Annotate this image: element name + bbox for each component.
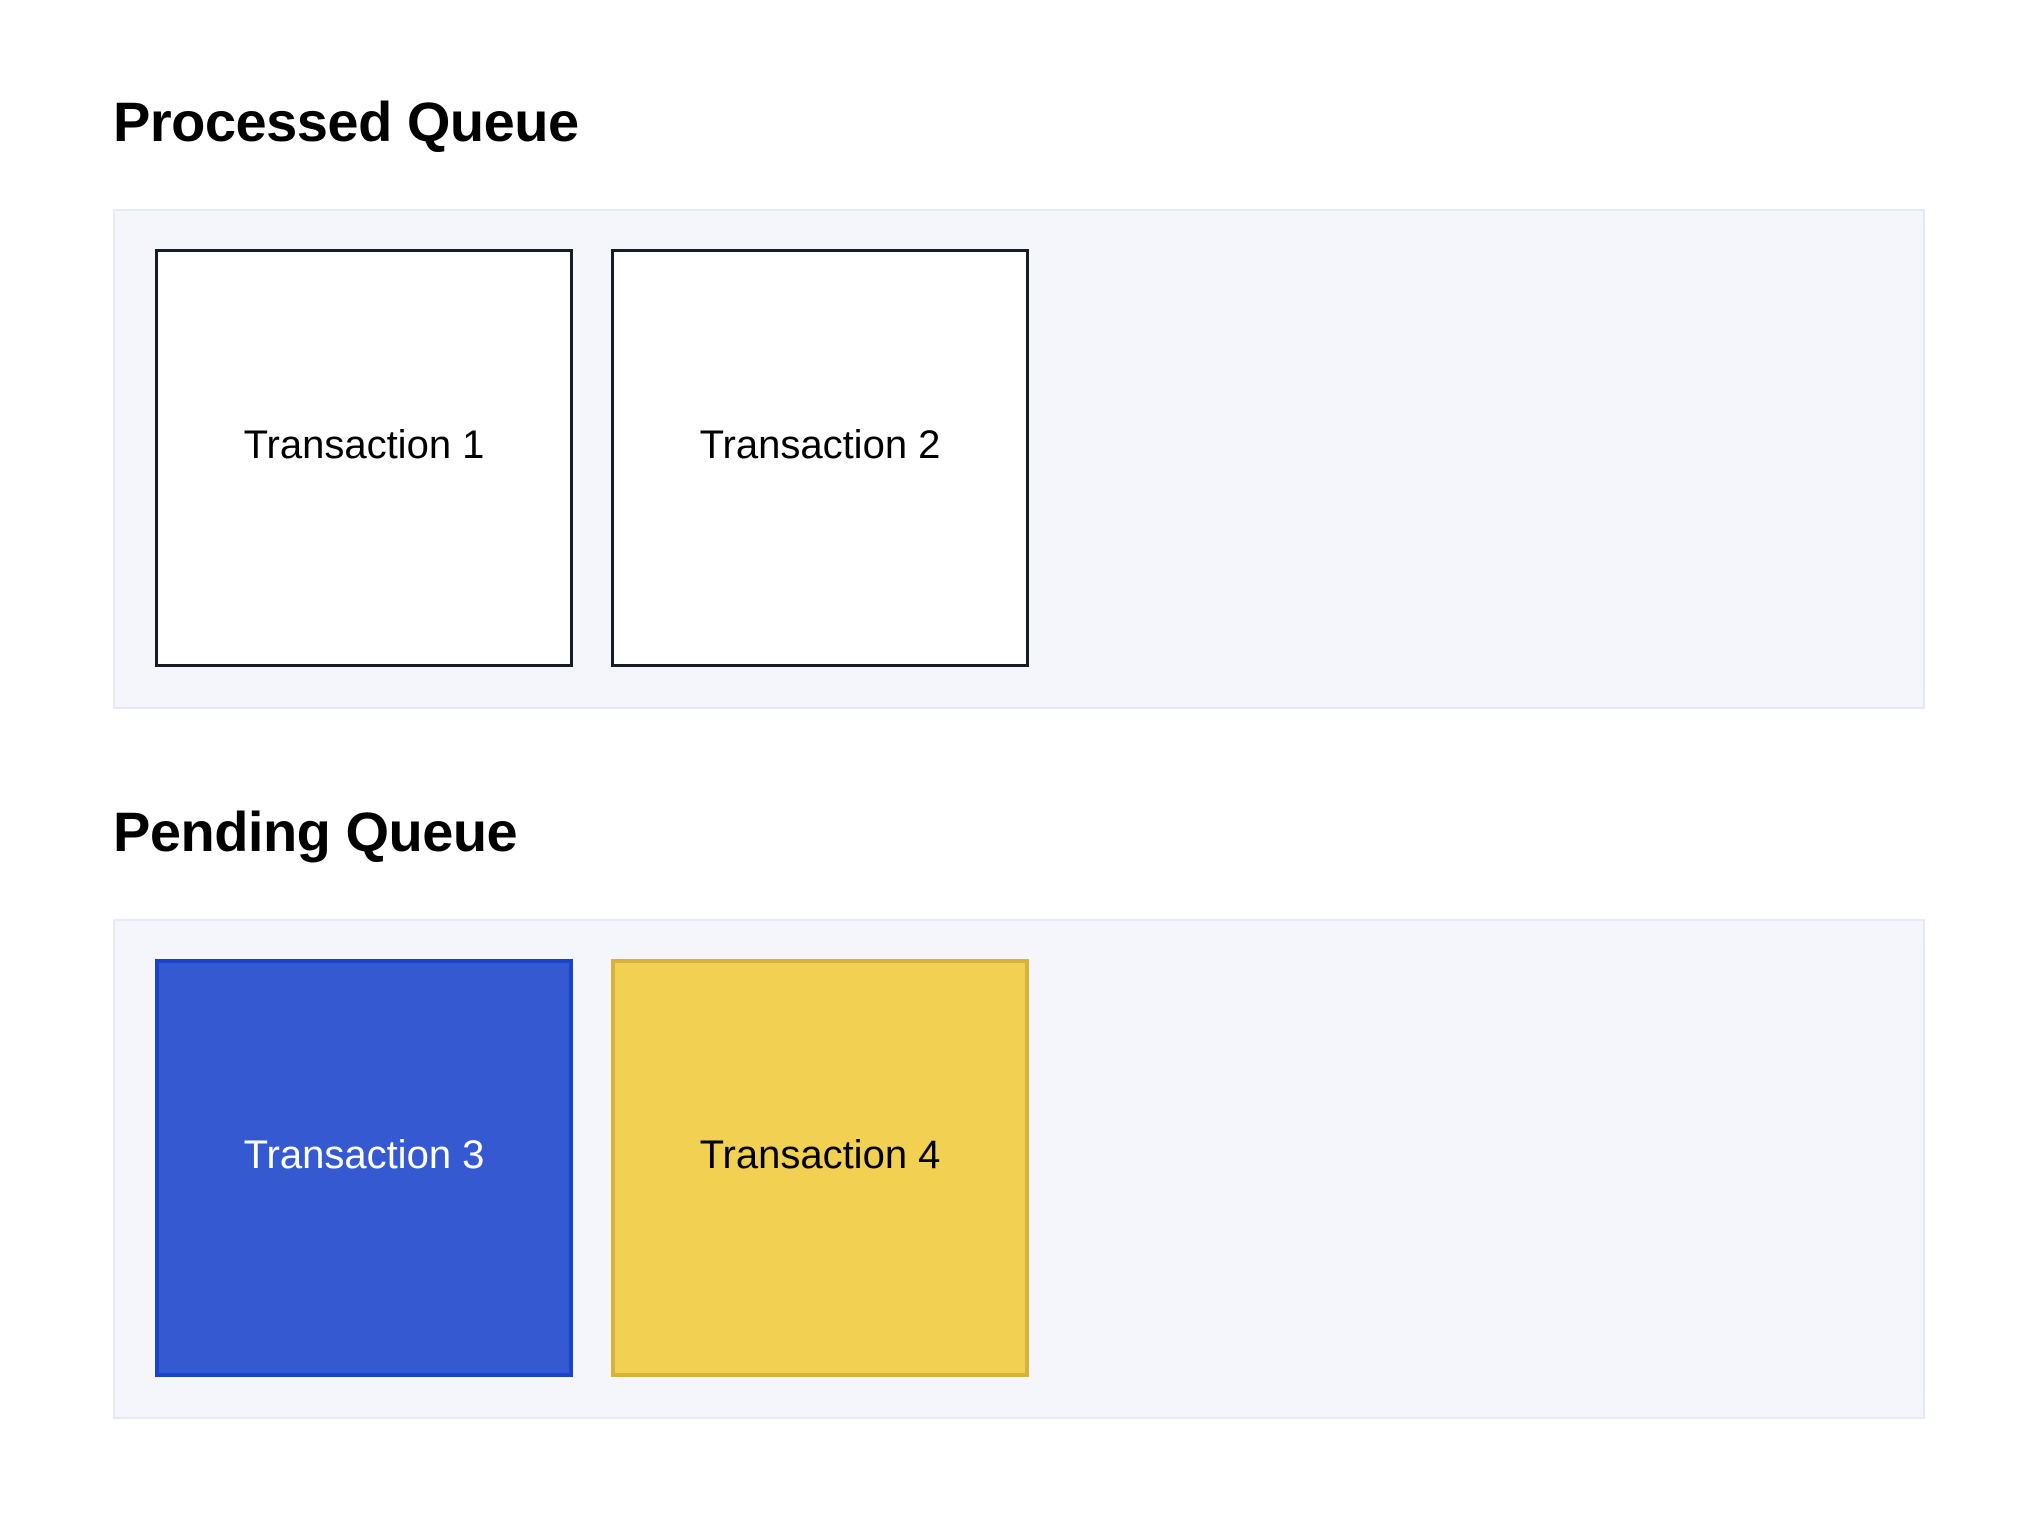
transaction-card-label: Transaction 1	[158, 423, 570, 467]
pending-queue-title: Pending Queue	[113, 803, 1925, 862]
processed-queue-title: Processed Queue	[113, 93, 1925, 152]
transaction-card[interactable]: Transaction 1	[155, 249, 573, 667]
queue-visualization-page: Processed Queue Transaction 1 Transactio…	[0, 0, 2036, 1532]
transaction-card[interactable]: Transaction 3	[155, 959, 573, 1377]
processed-queue-section: Processed Queue Transaction 1 Transactio…	[113, 93, 1925, 709]
transaction-card-label: Transaction 2	[614, 423, 1026, 467]
transaction-card[interactable]: Transaction 2	[611, 249, 1029, 667]
transaction-card-label: Transaction 3	[159, 1133, 569, 1177]
transaction-card-label: Transaction 4	[615, 1133, 1025, 1177]
pending-queue-section: Pending Queue Transaction 3 Transaction …	[113, 803, 1925, 1419]
processed-queue-container: Transaction 1 Transaction 2	[113, 209, 1925, 709]
transaction-card[interactable]: Transaction 4	[611, 959, 1029, 1377]
pending-queue-container: Transaction 3 Transaction 4	[113, 919, 1925, 1419]
